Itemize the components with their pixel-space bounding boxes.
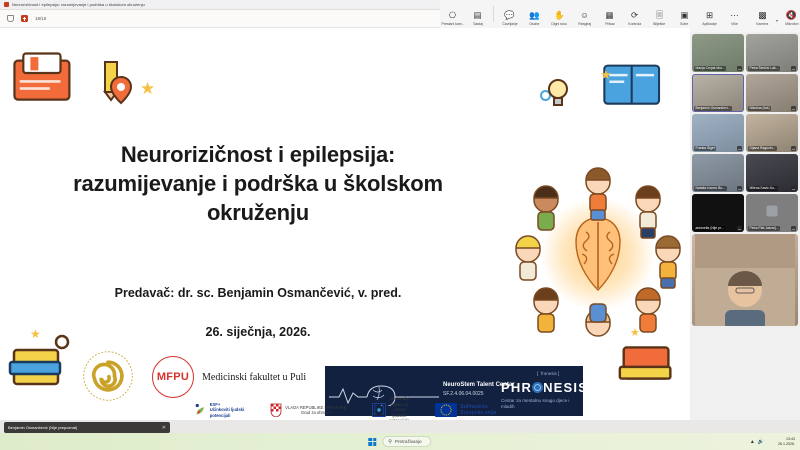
participant-name: antonella (Nije pr... bbox=[694, 226, 725, 231]
self-view-row bbox=[692, 234, 798, 326]
avatar bbox=[767, 206, 778, 217]
info-icon: ▤ bbox=[472, 10, 483, 20]
slide-title-block: Neurorizičnost i epilepsija: razumijevan… bbox=[28, 140, 488, 227]
chat-button[interactable]: 💬 Čavrljanje bbox=[497, 6, 522, 26]
camera-icon: ▩ bbox=[757, 10, 768, 20]
call-controls-group: ▩ Kamera ▾ 🔇 Mikrofon ▾ ▧ Podijeli ☎ Nap… bbox=[750, 3, 800, 29]
notes-icon: 🗏 bbox=[654, 10, 665, 20]
institution-bracket-icon bbox=[372, 403, 386, 417]
meeting-info-label: Sastaj bbox=[473, 22, 483, 26]
rooms-icon: ▣ bbox=[679, 10, 690, 20]
chat-label: Čavrljanje bbox=[502, 22, 517, 26]
participant-name: Milena Savić-Ko... bbox=[748, 186, 778, 191]
government-logo: VLADA REPUBLIKE HRVATSKE Grad za obnovu bbox=[270, 403, 346, 417]
rooms-button[interactable]: ▣ Sobe bbox=[672, 6, 697, 26]
close-icon[interactable]: ✕ bbox=[162, 425, 166, 431]
phronesis-right: NESIS bbox=[543, 380, 583, 395]
institution-logo: Nacionalni institut za razvoj ljudskih p… bbox=[372, 396, 409, 420]
microphone-button[interactable]: 🔇 Mikrofon bbox=[779, 6, 800, 26]
view-button[interactable]: ▦ Prikaz bbox=[597, 6, 622, 26]
atom-icon bbox=[532, 382, 543, 393]
windows-start-icon[interactable] bbox=[368, 438, 376, 446]
participant-name: Nataša Ivanov Bo... bbox=[694, 186, 727, 191]
esf-plus-logo: ESF+ Učinkoviti ljudski potencijali bbox=[194, 402, 244, 418]
red-book-doodle-icon bbox=[8, 50, 90, 112]
microphone-muted-icon: ⚊ bbox=[737, 186, 742, 191]
stop-sharing-label: Prestani kam... bbox=[441, 22, 464, 26]
people-label: Osobe bbox=[529, 22, 539, 26]
microphone-muted-icon: ⚊ bbox=[791, 146, 796, 151]
date-line: 26. siječnja, 2026. bbox=[28, 325, 488, 339]
participant-tile-camera-off[interactable]: antonella (Nije pr... ⚊ bbox=[692, 194, 744, 232]
participant-tile-avatar[interactable]: Petra Plat Jakovlj... ⚊ bbox=[746, 194, 798, 232]
funding-logos-row: ESF+ Učinkoviti ljudski potencijali VLAD… bbox=[0, 400, 690, 420]
participant-gallery: Manja Crnjak Mur... ⚊ Petra Šimičić Lak.… bbox=[690, 32, 800, 420]
apps-button[interactable]: ⊞ Aplikacije bbox=[697, 6, 722, 26]
phronesis-wordmark: PHR NESIS bbox=[501, 380, 583, 395]
microphone-muted-icon: ⚊ bbox=[737, 146, 742, 151]
esf-leaf-icon bbox=[194, 403, 207, 416]
taskbar-search-box[interactable]: ⚲ Pretraživanje bbox=[382, 436, 431, 447]
search-icon: ⚲ bbox=[388, 439, 392, 445]
slide-indicator: 18/10 bbox=[35, 16, 46, 21]
stop-sharing-button[interactable]: ⎔ Prestani kam... bbox=[440, 6, 465, 26]
blue-book-doodle-icon bbox=[596, 54, 674, 112]
microphone-muted-icon: ⚊ bbox=[791, 106, 796, 111]
esf-plus-text: ESF+ Učinkoviti ljudski potencijali bbox=[210, 402, 244, 418]
star-doodle-icon: ★ bbox=[600, 68, 612, 81]
stop-share-icon: ⎔ bbox=[447, 10, 458, 20]
participant-name: Petra Plat Jakovlj... bbox=[748, 226, 780, 231]
eu-flag-icon bbox=[435, 403, 457, 417]
participant-tile-active-speaker[interactable]: Benjamin Osmančevi... bbox=[692, 74, 744, 112]
participant-tile[interactable]: Franka Šiget ⚊ bbox=[692, 114, 744, 152]
eu-funding-text: Sufinancira Europska unija bbox=[460, 404, 496, 417]
participant-tile[interactable]: Nikolina (bot) ⚊ bbox=[746, 74, 798, 112]
privacy-shield-icon[interactable] bbox=[7, 15, 14, 22]
view-label: Prikaz bbox=[605, 22, 615, 26]
star-doodle-icon: ★ bbox=[140, 80, 155, 97]
microphone-muted-icon: ⚊ bbox=[791, 186, 796, 191]
powerpoint-icon bbox=[4, 2, 9, 7]
clock-date: 26.1.2026. bbox=[778, 442, 795, 447]
participant-name: Franka Šiget bbox=[694, 146, 716, 151]
rooms-label: Sobe bbox=[680, 22, 688, 26]
apps-plus-icon: ⊞ bbox=[704, 10, 715, 20]
camera-chevron-down-icon[interactable]: ▾ bbox=[776, 9, 778, 23]
windows-taskbar: ⚲ Pretraživanje ▲ 🔊 13:43 26.1.2026. bbox=[0, 433, 800, 450]
participant-tile[interactable]: Milena Savić-Ko... ⚊ bbox=[746, 154, 798, 192]
teams-meeting-window: Neurorizičnost i epilepsija: razumijevan… bbox=[0, 0, 800, 450]
self-view-tile[interactable] bbox=[692, 234, 798, 326]
microphone-label: Mikrofon bbox=[785, 22, 798, 26]
toolbar-divider bbox=[493, 6, 494, 22]
ellipsis-icon: ⋯ bbox=[729, 10, 740, 20]
grid-icon: ▦ bbox=[604, 10, 615, 20]
participant-name: Benjamin Osmančevi... bbox=[694, 106, 732, 111]
notes-button[interactable]: 🗏 Bilješke bbox=[647, 6, 672, 26]
gallery-row: Nataša Ivanov Bo... ⚊ Milena Savić-Ko...… bbox=[692, 154, 798, 192]
chat-notification-chip[interactable]: Benjamin Osmančević (Nije prepoznat) ✕ bbox=[4, 422, 170, 433]
slide-title-line-3: okruženju bbox=[28, 198, 488, 227]
children-around-brain-illustration bbox=[500, 156, 690, 352]
control-label: Kontrola bbox=[628, 22, 641, 26]
faculty-name-label: Medicinski fakultet u Puli bbox=[202, 372, 306, 383]
chat-chip-text: Benjamin Osmančević (Nije prepoznat) bbox=[8, 425, 77, 430]
participant-tile[interactable]: Petra Šimičić Lak... ⚊ bbox=[746, 34, 798, 72]
taskbar-center-group: ⚲ Pretraživanje bbox=[368, 436, 431, 447]
participant-tile[interactable]: Dijana Raguzin... ⚊ bbox=[746, 114, 798, 152]
faculty-abbrev-logo: MFPU bbox=[152, 356, 194, 398]
emoji-icon: ☺ bbox=[579, 10, 590, 20]
government-text: VLADA REPUBLIKE HRVATSKE Grad za obnovu bbox=[285, 405, 346, 416]
presenter-line: Predavač: dr. sc. Benjamin Osmančević, v… bbox=[28, 286, 488, 300]
notes-label: Bilješke bbox=[654, 22, 666, 26]
phronesis-left: PHR bbox=[501, 380, 532, 395]
microphone-muted-icon: ⚊ bbox=[791, 226, 796, 231]
hand-icon: ✋ bbox=[554, 10, 565, 20]
participant-tile[interactable]: Manja Crnjak Mur... ⚊ bbox=[692, 34, 744, 72]
participant-name: Manja Crnjak Mur... bbox=[694, 66, 726, 71]
european-union-logo: Sufinancira Europska unija bbox=[435, 403, 496, 417]
shared-content-area: ★ ★ ★ ★ bbox=[0, 28, 690, 420]
raise-hand-button[interactable]: ✋ Digni ruku bbox=[547, 6, 572, 26]
microphone-muted-icon: ⚊ bbox=[737, 66, 742, 71]
react-label: Reagiraj bbox=[578, 22, 591, 26]
camera-button[interactable]: ▩ Kamera bbox=[750, 6, 775, 26]
more-button[interactable]: ⋯ Više bbox=[722, 6, 747, 26]
location-pin-doodle-icon bbox=[108, 74, 134, 106]
control-icon: ⟳ bbox=[629, 10, 640, 20]
participant-tile[interactable]: Nataša Ivanov Bo... ⚊ bbox=[692, 154, 744, 192]
people-button[interactable]: 👥 Osobe bbox=[522, 6, 547, 26]
react-button[interactable]: ☺ Reagiraj bbox=[572, 6, 597, 26]
raise-hand-label: Digni ruku bbox=[552, 22, 568, 26]
gallery-row: antonella (Nije pr... ⚊ Petra Plat Jakov… bbox=[692, 194, 798, 232]
apps-label: Aplikacije bbox=[702, 22, 717, 26]
gallery-row: Benjamin Osmančevi... Nikolina (bot) ⚊ bbox=[692, 74, 798, 112]
control-button[interactable]: ⟳ Kontrola bbox=[622, 6, 647, 26]
participant-name: Dijana Raguzin... bbox=[748, 146, 777, 151]
gallery-row: Manja Crnjak Mur... ⚊ Petra Šimičić Lak.… bbox=[692, 34, 798, 72]
people-icon: 👥 bbox=[529, 10, 540, 20]
microphone-muted-icon: ⚊ bbox=[737, 226, 742, 231]
toolbar-main-group: ⎔ Prestani kam... ▤ Sastaj 💬 Čavrljanje … bbox=[440, 6, 747, 26]
search-placeholder: Pretraživanje bbox=[395, 439, 422, 444]
meeting-info-button[interactable]: ▤ Sastaj bbox=[465, 6, 490, 26]
presentation-slide: ★ ★ ★ ★ bbox=[0, 28, 690, 420]
slide-title-line-2: razumijevanje i podrška u školskom bbox=[28, 169, 488, 198]
taskbar-clock[interactable]: 13:43 26.1.2026. bbox=[778, 437, 795, 447]
system-tray[interactable]: ▲ 🔊 bbox=[750, 439, 764, 445]
gallery-row: Franka Šiget ⚊ Dijana Raguzin... ⚊ bbox=[692, 114, 798, 152]
volume-icon[interactable]: 🔊 bbox=[758, 439, 764, 445]
logo-strip: MFPU Medicinski fakultet u Puli NeuroSte… bbox=[0, 346, 690, 402]
window-title: Neurorizičnost i epilepsija: razumijevan… bbox=[12, 2, 145, 7]
participant-name: Nikolina (bot) bbox=[748, 106, 771, 111]
participant-name: Petra Šimičić Lak... bbox=[748, 66, 780, 71]
presenting-badge-icon[interactable] bbox=[21, 15, 28, 22]
network-icon[interactable]: ▲ bbox=[750, 439, 755, 445]
university-spiral-logo-icon bbox=[80, 350, 136, 402]
institution-text: Nacionalni institut za razvoj ljudskih p… bbox=[389, 396, 409, 420]
brand-ipa: [ ˈfronesis ] bbox=[537, 371, 559, 376]
self-video-feed bbox=[692, 234, 798, 326]
microphone-muted-icon: 🔇 bbox=[786, 10, 797, 20]
more-label: Više bbox=[731, 22, 738, 26]
project-code: SF.2.4.06.04.0025 bbox=[443, 391, 484, 397]
slide-title-line-1: Neurorizičnost i epilepsija: bbox=[28, 140, 488, 169]
chat-bubble-icon: 💬 bbox=[504, 10, 515, 20]
microphone-muted-icon: ⚊ bbox=[791, 66, 796, 71]
camera-label: Kamera bbox=[756, 22, 768, 26]
croatian-coat-of-arms-icon bbox=[270, 403, 282, 417]
lightbulb-doodle-icon bbox=[545, 76, 571, 110]
